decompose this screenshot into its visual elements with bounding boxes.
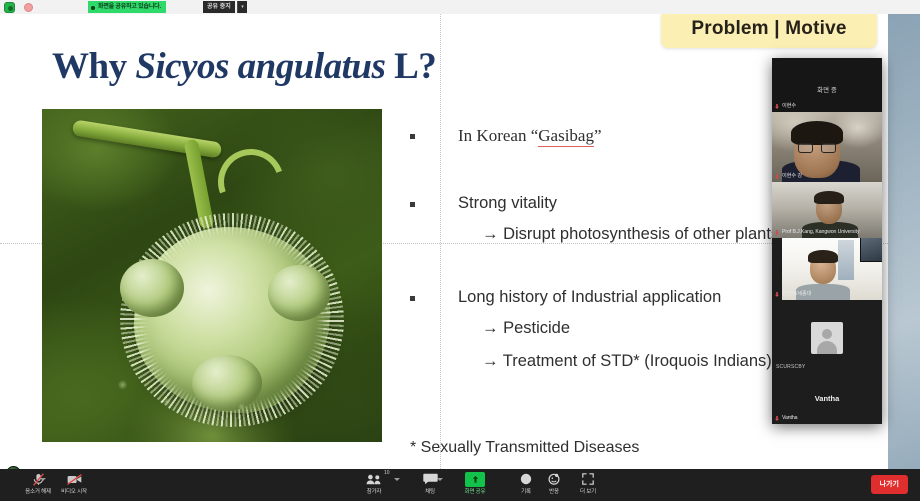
person-hair	[791, 121, 843, 145]
person-hair	[808, 250, 838, 263]
title-suffix: L?	[385, 46, 436, 87]
share-screen-label: 화면 공유	[465, 487, 486, 495]
avatar-body-icon	[817, 341, 837, 354]
title-species: Sicyos angulatus	[135, 46, 385, 87]
spellchecked-word: Gasibag	[538, 126, 594, 147]
tile-status-text: 화면 중	[772, 84, 882, 94]
bullet-marker-icon	[410, 296, 415, 301]
fruit-lobe	[120, 259, 184, 317]
avatar	[811, 322, 843, 354]
participants-caret-icon[interactable]	[394, 478, 400, 481]
title-prefix: Why	[52, 46, 135, 87]
bullet-marker-icon	[410, 202, 415, 207]
video-button[interactable]: 비디오 시작	[48, 472, 100, 499]
shared-slide: Why Sicyos angulatus L? In Korean “Gasib…	[0, 14, 888, 469]
room-doorway	[838, 240, 854, 280]
bullet-label: → Disrupt photosynthesis of other plants	[482, 225, 779, 243]
video-tile[interactable]: 화면 중 이현수	[772, 58, 882, 112]
bullet-label: → Pesticide	[482, 319, 570, 337]
more-options-label: 더 보기	[580, 487, 596, 495]
mute-options-caret-icon[interactable]	[40, 478, 46, 481]
fruit-lobe	[268, 265, 330, 321]
participants-button[interactable]: 참가자	[348, 472, 400, 499]
participant-name: 이현수 강	[775, 172, 802, 180]
picture-in-picture	[860, 238, 882, 262]
participants-label: 참가자	[367, 487, 382, 495]
plant-photograph	[42, 109, 382, 442]
sharing-status-banner: 화면을 공유하고 있습니다.	[88, 1, 166, 13]
reactions-label: 반응	[549, 487, 559, 495]
bullet-text-pre: In Korean “	[458, 126, 538, 145]
video-label: 비디오 시작	[61, 487, 87, 495]
leaf-spots	[92, 364, 262, 429]
participant-name: 김현수/세종대	[775, 290, 811, 298]
meeting-toolbar[interactable]: 음소거 해제 비디오 시작 참가자 10	[0, 469, 920, 501]
fullscreen-icon	[582, 472, 594, 486]
glasses-icon	[798, 143, 836, 153]
video-tile[interactable]: 김현수/세종대	[772, 238, 882, 300]
participant-name: Vantha	[775, 414, 797, 422]
bullet-text-post: ”	[594, 126, 602, 145]
page-title: Why Sicyos angulatus L?	[52, 45, 436, 88]
camera-off-icon	[67, 472, 82, 486]
participants-icon	[366, 472, 382, 486]
share-screen-button[interactable]: 화면 공유	[442, 472, 508, 499]
share-screen-icon	[442, 472, 508, 486]
video-tile[interactable]: Prof B.J.Kang, Kangwon University	[772, 182, 882, 238]
chat-bubble-icon	[423, 472, 438, 486]
stop-share-caret-icon[interactable]: ▾	[237, 1, 247, 13]
tile-corner-id: SCURSCBY	[776, 364, 805, 370]
participant-name: 이현수	[775, 102, 796, 110]
bullet-label: Long history of Industrial application	[458, 288, 721, 306]
video-filmstrip[interactable]: 화면 중 이현수 이현수 강 Prof B.J.Kang, Kangwon Un…	[772, 58, 882, 424]
bullet-label: → Treatment of STD* (Iroquois Indians)	[482, 352, 772, 370]
stop-share-button[interactable]: 공유 중지	[203, 1, 235, 13]
footnote: * Sexually Transmitted Diseases	[410, 439, 639, 457]
screenshare-indicator-icon	[4, 2, 15, 13]
video-tile[interactable]: SCURSCBY Vantha Vantha	[772, 300, 882, 424]
more-options-button[interactable]: 더 보기	[562, 472, 614, 499]
reactions-icon	[548, 472, 560, 486]
bullet-label: Strong vitality	[458, 194, 557, 212]
leave-meeting-button[interactable]: 나가기	[871, 475, 908, 494]
recording-indicator-icon	[24, 3, 33, 12]
participant-name: Prof B.J.Kang, Kangwon University	[775, 228, 859, 236]
person-hair	[814, 191, 844, 204]
participant-display-name: Vantha	[772, 394, 882, 403]
chat-label: 채팅	[425, 487, 435, 495]
avatar-head-icon	[822, 329, 832, 339]
video-tile[interactable]: 이현수 강	[772, 112, 882, 182]
mute-label: 음소거 해제	[25, 487, 51, 495]
window-titlebar: 화면을 공유하고 있습니다. 공유 중지 ▾	[0, 0, 920, 14]
section-badge: Problem | Motive	[661, 10, 877, 48]
participants-count: 10	[384, 470, 390, 476]
bullet-marker-icon	[410, 134, 415, 139]
